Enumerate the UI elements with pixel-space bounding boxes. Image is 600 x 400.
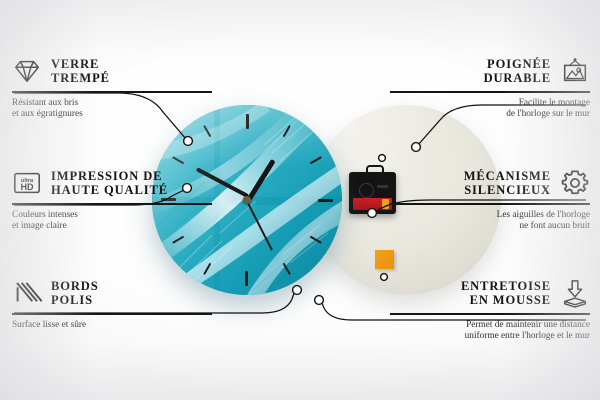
callout-mecanisme-silencieux[interactable]: MÉCANISME SILENCIEUX Les aiguilles de l'… [390, 168, 590, 232]
foam-spacer-icon [560, 278, 590, 308]
callout-verre-trempe[interactable]: VERRE TREMPÉ Résistant aux bris et aux é… [12, 56, 212, 120]
callout-header: MÉCANISME SILENCIEUX [390, 168, 590, 198]
callout-subtitle-1: Les aiguilles de l'horloge [390, 210, 590, 221]
ultra-hd-icon: ultra HD [12, 168, 42, 198]
leader-dot-verre [184, 137, 193, 146]
callout-header: ENTRETOISE EN MOUSSE [390, 278, 590, 308]
leader-dot-mecanisme [368, 209, 377, 218]
diamond-icon [12, 56, 42, 86]
callout-poignee-durable[interactable]: POIGNÉE DURABLE Facilite le montage de l… [390, 56, 590, 120]
callout-title: ENTRETOISE EN MOUSSE [461, 279, 551, 307]
svg-text:HD: HD [21, 182, 34, 192]
callout-divider [390, 91, 590, 93]
polished-edges-icon [12, 278, 42, 308]
wall-mount-picture-icon [560, 56, 590, 86]
callout-bords-polis[interactable]: BORDS POLIS Surface lisse et sûre [12, 278, 212, 331]
callout-header: VERRE TREMPÉ [12, 56, 212, 86]
callout-divider [12, 313, 212, 315]
callout-title: POIGNÉE DURABLE [484, 57, 551, 85]
callout-subtitle-1: Résistant aux bris [12, 98, 212, 109]
callout-title: MÉCANISME SILENCIEUX [464, 169, 551, 197]
callout-entretoise-en-mousse[interactable]: ENTRETOISE EN MOUSSE Permet de maintenir… [390, 278, 590, 342]
leader-dot-foam [381, 274, 388, 281]
leader-dot-poignee [412, 143, 421, 152]
callout-subtitle-1: Permet de maintenir une distance [390, 320, 590, 331]
callout-subtitle-2: et image claire [12, 221, 212, 232]
callout-divider [12, 91, 212, 93]
callout-subtitle-2: et aux égratignures [12, 109, 212, 120]
callout-divider [390, 313, 590, 315]
callout-subtitle-2: ne font aucun bruit [390, 221, 590, 232]
callout-title: VERRE TREMPÉ [51, 57, 110, 85]
callout-header: ultra HD IMPRESSION DE HAUTE QUALITÉ [12, 168, 212, 198]
leader-dot-hanger [379, 155, 386, 162]
callout-subtitle-2: de l'horloge sur le mur [390, 109, 590, 120]
leader-dot-bords [293, 286, 302, 295]
callout-impression-haute-qualite[interactable]: ultra HD IMPRESSION DE HAUTE QUALITÉ Cou… [12, 168, 212, 232]
leader-dot-entretoise [315, 296, 324, 305]
callout-subtitle-1: Couleurs intenses [12, 210, 212, 221]
callout-subtitle-2: uniforme entre l'horloge et le mur [390, 331, 590, 342]
callout-title: BORDS POLIS [51, 279, 99, 307]
callout-divider [12, 203, 212, 205]
infographic-canvas: VERRE TREMPÉ Résistant aux bris et aux é… [0, 0, 600, 400]
callout-header: BORDS POLIS [12, 278, 212, 308]
callout-subtitle-1: Facilite le montage [390, 98, 590, 109]
gear-icon [560, 168, 590, 198]
callout-title: IMPRESSION DE HAUTE QUALITÉ [51, 169, 168, 197]
callout-subtitle-1: Surface lisse et sûre [12, 320, 212, 331]
callout-header: POIGNÉE DURABLE [390, 56, 590, 86]
callout-divider [390, 203, 590, 205]
